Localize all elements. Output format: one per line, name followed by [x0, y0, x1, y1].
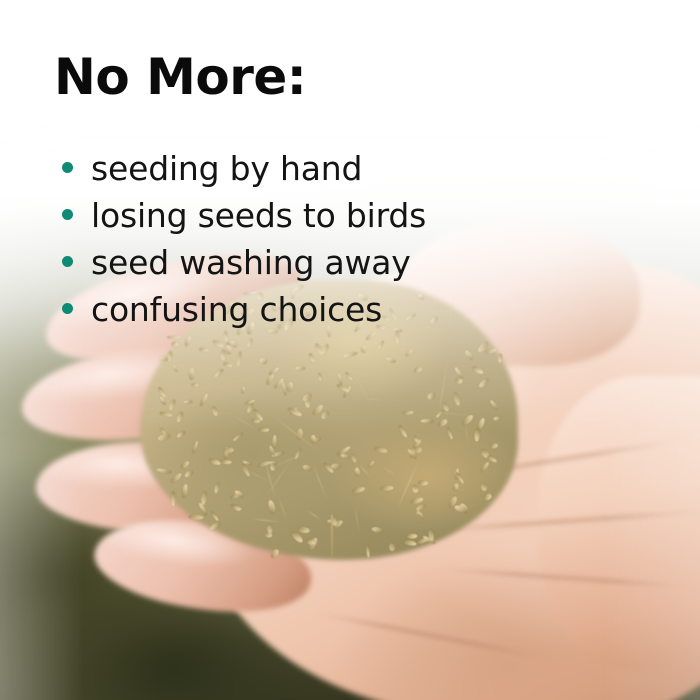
list-item: losing seeds to birds [62, 199, 426, 246]
list-item-label: losing seeds to birds [91, 199, 426, 232]
benefits-list: seeding by handlosing seeds to birdsseed… [62, 152, 426, 340]
list-item: confusing choices [62, 293, 426, 340]
list-item-label: seeding by hand [91, 152, 362, 185]
list-item: seed washing away [62, 246, 426, 293]
list-item: seeding by hand [62, 152, 426, 199]
dot-bullet-icon [62, 303, 73, 314]
dot-bullet-icon [62, 256, 73, 267]
dot-bullet-icon [62, 209, 73, 220]
dot-bullet-icon [62, 162, 73, 173]
page-title: No More: [54, 50, 306, 105]
list-item-label: confusing choices [91, 293, 382, 326]
promo-graphic: No More: seeding by handlosing seeds to … [0, 0, 700, 700]
list-item-label: seed washing away [91, 246, 411, 279]
text-content: No More: seeding by handlosing seeds to … [0, 0, 700, 700]
